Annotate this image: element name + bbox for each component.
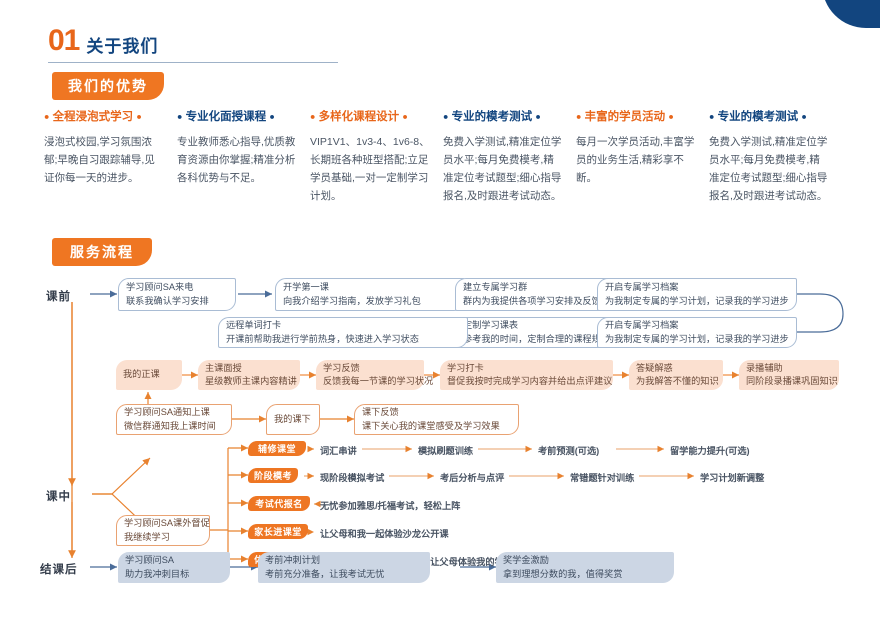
advantage-column: ● 丰富的学员活动 ●每月一次学员活动,丰富学员的业务生活,精彩享不断。: [576, 112, 709, 205]
flow-node-supervise: 学习顾问SA课外督促我继续学习: [116, 515, 210, 546]
advantage-column: ● 全程浸泡式学习 ●浸泡式校园,学习氛围浓郁;早晚自习跟踪辅导,见证你每一天的…: [44, 112, 177, 205]
stage-label-pre-class: 课前: [46, 288, 71, 304]
sub-track-tag[interactable]: 家长进课堂: [248, 524, 308, 539]
flow-node-end-1: 学习顾问SA助力我冲刺目标: [118, 552, 230, 583]
advantage-title: ● 全程浸泡式学习 ●: [44, 112, 177, 124]
bullet-icon: ●: [709, 111, 714, 121]
advantage-title: ● 多样化课程设计 ●: [310, 112, 443, 124]
flow-node-in-2: 我的课下: [266, 404, 320, 435]
advantage-column: ● 专业的模考测试 ●免费入学测试,精准定位学员水平;每月免费模考,精准定位考试…: [443, 112, 576, 205]
flow-node-main-2: 主课面授星级教师主课内容精讲: [198, 360, 300, 390]
bullet-icon: ●: [269, 111, 274, 121]
bullet-icon: ●: [402, 111, 407, 121]
advantage-body: 专业教师悉心指导,优质教育资源由你掌握;精准分析各科优势与不足。: [177, 133, 297, 187]
flow-node-main-4: 学习打卡督促我按时完成学习内容并给出点评建议: [440, 360, 613, 390]
section-header: 01 关于我们: [48, 26, 158, 56]
advantage-body: VIP1V1、1v3-4、1v6-8、长期班各种班型搭配;立足学员基础,一对一定…: [310, 133, 430, 205]
advantage-body: 浸泡式校园,学习氛围浓郁;早晚自习跟踪辅导,见证你每一天的进步。: [44, 133, 164, 187]
flow-node-pre-4: 开启专属学习档案为我制定专属的学习计划，记录我的学习进步: [597, 278, 797, 311]
sub-track-tag[interactable]: 阶段模考: [248, 468, 298, 483]
sub-track-step: 考前预测(可选): [538, 443, 599, 457]
bullet-icon: ●: [44, 111, 49, 121]
flow-node-pre2-3: 开启专属学习档案为我制定专属的学习计划，记录我的学习进步: [597, 317, 797, 348]
bullet-icon: ●: [535, 111, 540, 121]
header-divider: [48, 62, 338, 63]
advantage-title: ● 专业的模考测试 ●: [709, 112, 842, 124]
sub-track-step: 词汇串讲: [320, 443, 357, 457]
corner-decoration: [822, 0, 880, 28]
bullet-icon: ●: [801, 111, 806, 121]
sub-track-step: 留学能力提升(可选): [670, 443, 750, 457]
bullet-icon: ●: [177, 111, 182, 121]
flow-node-main-5: 答疑解惑为我解答不懂的知识: [629, 360, 723, 390]
flow-node-pre2-1: 远程单词打卡开课前帮助我进行学前热身，快速进入学习状态: [218, 317, 468, 348]
bullet-icon: ●: [668, 111, 673, 121]
sub-track-step: 无忧参加雅思/托福考试，轻松上阵: [320, 498, 460, 512]
stage-label-in-class: 课中: [46, 488, 71, 504]
sub-track-step: 考后分析与点评: [440, 470, 504, 484]
flow-node-in-3: 课下反馈课下关心我的课堂感受及学习效果: [354, 404, 519, 435]
flow-node-main-6: 录播辅助同阶段录播课巩固知识: [739, 360, 839, 390]
advantage-body: 免费入学测试,精准定位学员水平;每月免费模考,精准定位考试题型;细心指导报名,及…: [709, 133, 829, 205]
flow-node-pre-1: 学习顾问SA来电联系我确认学习安排: [118, 278, 236, 311]
advantage-title: ● 专业的模考测试 ●: [443, 112, 576, 124]
bullet-icon: ●: [576, 111, 581, 121]
bullet-icon: ●: [443, 111, 448, 121]
flow-node-pre-2: 开学第一课向我介绍学习指南，发放学习礼包: [275, 278, 465, 311]
advantages-grid: ● 全程浸泡式学习 ●浸泡式校园,学习氛围浓郁;早晚自习跟踪辅导,见证你每一天的…: [44, 112, 844, 205]
flow-node-end-3: 奖学金激励拿到理想分数的我，值得奖赏: [496, 552, 674, 583]
sub-track-tag[interactable]: 辅修课堂: [248, 441, 306, 456]
sub-track-step: 常错题针对训练: [570, 470, 634, 484]
advantage-title: ● 专业化面授课程 ●: [177, 112, 310, 124]
sub-track-step: 让父母和我一起体验沙龙公开课: [320, 526, 449, 540]
advantage-body: 免费入学测试,精准定位学员水平;每月免费模考,精准定位考试题型;细心指导报名,及…: [443, 133, 563, 205]
advantage-column: ● 多样化课程设计 ●VIP1V1、1v3-4、1v6-8、长期班各种班型搭配;…: [310, 112, 443, 205]
sub-track-step: 学习计划新调整: [700, 470, 764, 484]
bullet-icon: ●: [136, 111, 141, 121]
sub-track-tag[interactable]: 考试代报名: [248, 496, 310, 511]
section-number: 01: [48, 26, 79, 56]
flow-node-in-1: 学习顾问SA通知上课微信群通知我上课时间: [116, 404, 232, 435]
stage-label-after-class: 结课后: [40, 561, 78, 577]
bullet-icon: ●: [310, 111, 315, 121]
advantages-badge: 我们的优势: [52, 72, 164, 100]
flow-node-main-1: 我的正课: [116, 360, 182, 390]
flow-node-end-2: 考前冲刺计划考前充分准备，让我考试无忧: [258, 552, 430, 583]
service-flow-diagram: 课前课中结课后学习顾问SA来电联系我确认学习安排开学第一课向我介绍学习指南，发放…: [0, 262, 880, 612]
sub-track-step: 现阶段模拟考试: [320, 470, 384, 484]
advantage-body: 每月一次学员活动,丰富学员的业务生活,精彩享不断。: [576, 133, 696, 187]
flow-node-main-3: 学习反馈反馈我每一节课的学习状况: [316, 360, 424, 390]
advantage-title: ● 丰富的学员活动 ●: [576, 112, 709, 124]
sub-track-step: 模拟刷题训练: [418, 443, 473, 457]
advantage-column: ● 专业的模考测试 ●免费入学测试,精准定位学员水平;每月免费模考,精准定位考试…: [709, 112, 842, 205]
advantage-column: ● 专业化面授课程 ●专业教师悉心指导,优质教育资源由你掌握;精准分析各科优势与…: [177, 112, 310, 205]
page-title: 关于我们: [86, 38, 158, 55]
